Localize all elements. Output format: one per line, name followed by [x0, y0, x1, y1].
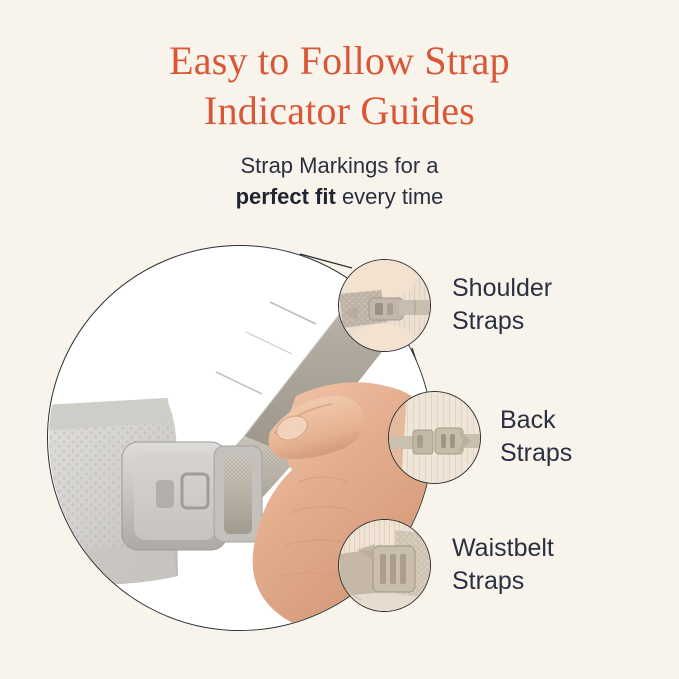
callout-circle-waist [338, 519, 431, 612]
callout-label-shoulder: Shoulder Straps [452, 272, 552, 338]
infographic-root: Easy to Follow Strap Indicator Guides St… [0, 0, 679, 679]
page-subtitle: Strap Markings for a perfect fit every t… [0, 150, 679, 212]
callout-circle-back [388, 391, 481, 484]
page-title: Easy to Follow Strap Indicator Guides [0, 36, 679, 136]
back-strap-buckle-photo [389, 392, 481, 484]
callout-circle-shoulder [338, 259, 431, 352]
subtitle-line-1: Strap Markings for a [240, 153, 438, 178]
shoulder-strap-buckle-photo [339, 260, 431, 352]
strap-buckle [122, 442, 262, 550]
callout-label-back: Back Straps [500, 404, 572, 470]
subtitle-emphasis: perfect fit [236, 184, 336, 209]
subtitle-tail: every time [336, 184, 444, 209]
callout-label-waist: Waistbelt Straps [452, 532, 554, 598]
waistbelt-strap-buckle-photo [339, 520, 431, 612]
